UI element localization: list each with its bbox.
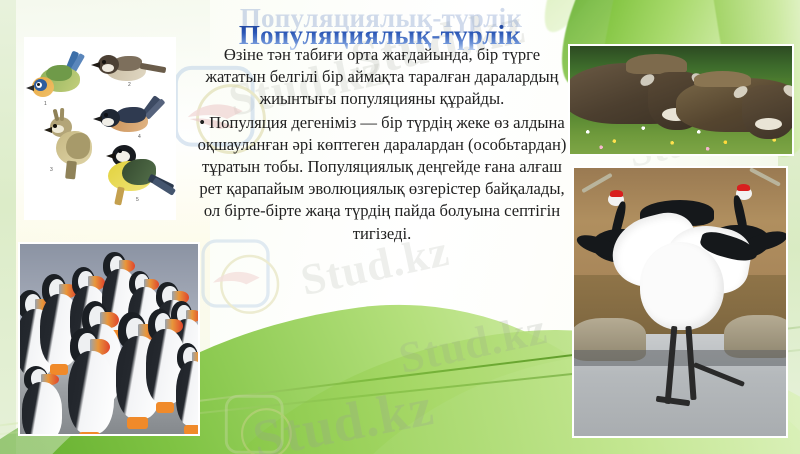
puffin <box>68 328 114 434</box>
slide-body-text: Өзіне тән табиғи орта жағдайында, бір тү… <box>196 44 568 245</box>
paragraph-bullet-population: • Популяция дегеніміз — бір түрдің жеке … <box>196 112 568 245</box>
watermark-text: Stud.kz <box>248 375 439 454</box>
tit-species-illustration: 1 2 4 <box>24 37 176 220</box>
bird-illustration: 2 <box>94 51 166 91</box>
puffin-colony-photo <box>18 242 200 436</box>
background-left-edge-stripe <box>0 0 16 454</box>
puffin <box>176 343 200 427</box>
bird-illustration: 1 <box>32 57 94 105</box>
bison-head <box>742 85 794 139</box>
european-bison-photo <box>568 44 794 156</box>
bird-illustration: 4 <box>98 99 172 141</box>
crane-dancing <box>604 200 764 436</box>
stud-kz-bird-logo-icon <box>222 392 308 454</box>
stud-kz-bird-logo-icon <box>198 236 298 336</box>
watermark-text: Stud.kz <box>394 303 551 384</box>
paragraph-definition: Өзіне тән табиғи орта жағдайында, бір тү… <box>196 44 568 111</box>
red-crowned-cranes-photo <box>572 166 788 438</box>
presentation-slide: Stud.kz Stud.kz Stud.kz Stud.kz Stud.kz … <box>0 0 800 454</box>
puffin <box>22 366 62 436</box>
bird-illustration: 5 <box>94 145 176 207</box>
